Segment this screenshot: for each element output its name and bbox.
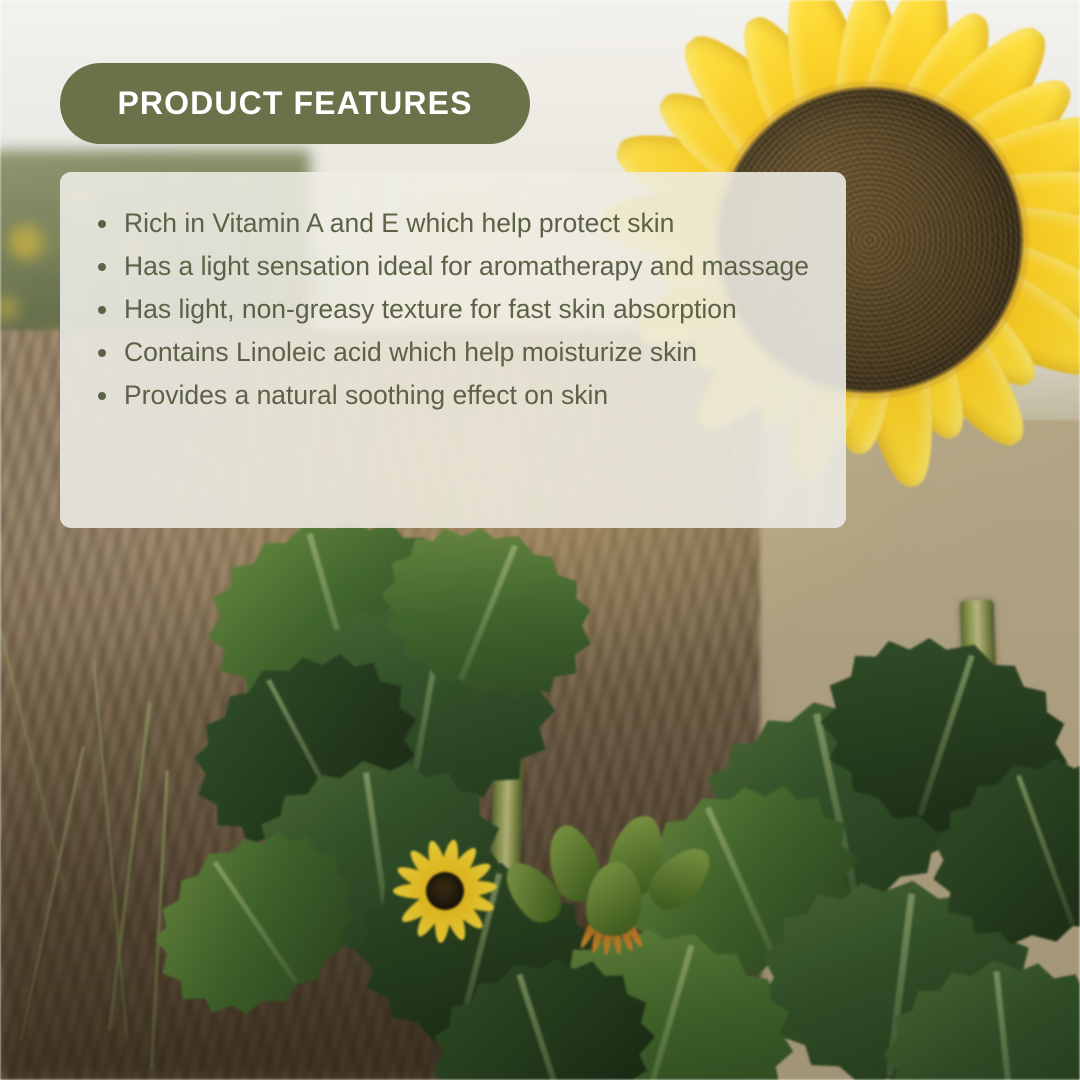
feature-text: Rich in Vitamin A and E which help prote… [124, 208, 674, 238]
feature-text: Has light, non-greasy texture for fast s… [124, 294, 737, 324]
background-photograph [0, 0, 1080, 1080]
list-item: Contains Linoleic acid which help moistu… [92, 331, 824, 374]
list-item: Has a light sensation ideal for aromathe… [92, 245, 824, 288]
bullet-icon [98, 392, 106, 400]
spent-flower-head [510, 808, 710, 978]
bullet-icon [98, 306, 106, 314]
bullet-icon [98, 349, 106, 357]
feature-text: Contains Linoleic acid which help moistu… [124, 337, 697, 367]
list-item: Provides a natural soothing effect on sk… [92, 374, 824, 417]
bullet-icon [98, 220, 106, 228]
list-item: Rich in Vitamin A and E which help prote… [92, 202, 824, 245]
badge-label: PRODUCT FEATURES [117, 85, 472, 122]
feature-text: Has a light sensation ideal for aromathe… [124, 251, 809, 281]
feature-text: Provides a natural soothing effect on sk… [124, 380, 608, 410]
bullet-icon [98, 263, 106, 271]
sunflower-disc-small [426, 872, 464, 910]
product-features-badge: PRODUCT FEATURES [60, 63, 530, 144]
product-features-graphic: PRODUCT FEATURES Rich in Vitamin A and E… [0, 0, 1080, 1080]
feature-list: Rich in Vitamin A and E which help prote… [60, 172, 846, 417]
sunflower-bloom-small [386, 832, 504, 950]
list-item: Has light, non-greasy texture for fast s… [92, 288, 824, 331]
features-panel: Rich in Vitamin A and E which help prote… [60, 172, 846, 528]
